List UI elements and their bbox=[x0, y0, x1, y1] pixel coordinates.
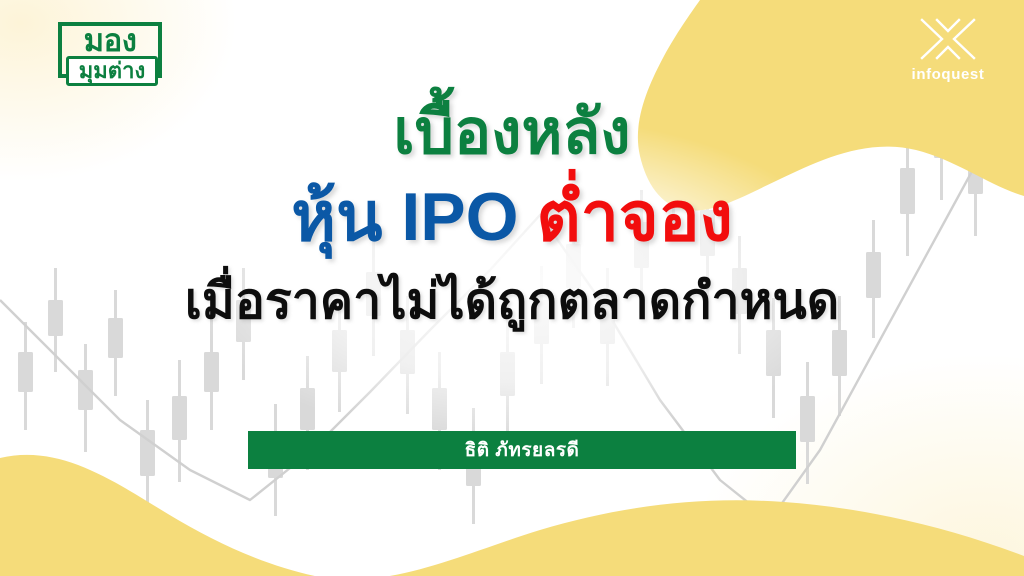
headline-line-2: หุ้น IPOต่ำจอง bbox=[0, 176, 1024, 258]
publisher-name: infoquest bbox=[900, 66, 996, 83]
brand-logo-line1: มอง bbox=[60, 24, 160, 58]
promo-graphic-canvas: มอง มุมต่าง infoquest เบื้องหลัง หุ้น IP… bbox=[0, 0, 1024, 576]
author-bar: ธิติ ภัทรยลรดี bbox=[248, 431, 796, 469]
publisher-logo: infoquest bbox=[900, 16, 996, 83]
headline-line-3: เมื่อราคาไม่ได้ถูกตลาดกำหนด bbox=[0, 270, 1024, 332]
author-name: ธิติ ภัทรยลรดี bbox=[465, 435, 580, 465]
headline-line-2-red: ต่ำจอง bbox=[537, 179, 733, 255]
infoquest-x-icon bbox=[919, 16, 977, 62]
headline-line-1: เบื้องหลัง bbox=[0, 96, 1024, 170]
brand-logo-line2: มุมต่าง bbox=[66, 55, 158, 87]
headline-block: เบื้องหลัง หุ้น IPOต่ำจอง เมื่อราคาไม่ได… bbox=[0, 96, 1024, 332]
headline-line-2-blue: หุ้น IPO bbox=[291, 179, 518, 255]
